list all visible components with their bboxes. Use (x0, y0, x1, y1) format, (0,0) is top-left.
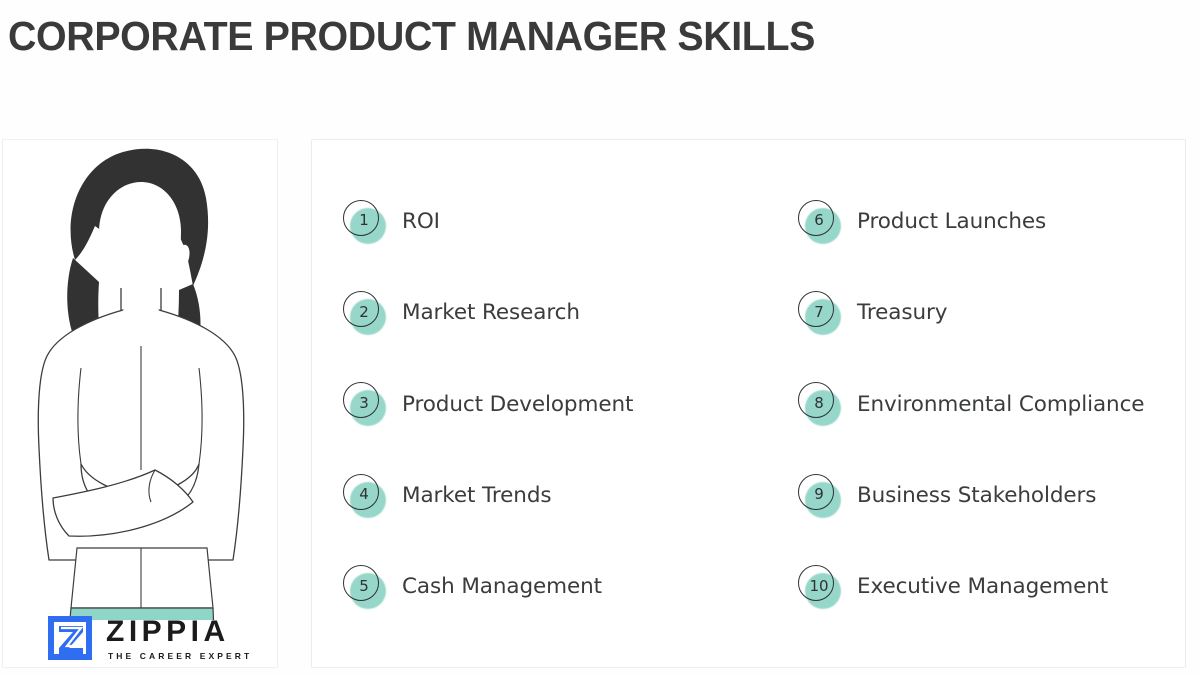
zippia-name: ZIPPIA (106, 617, 252, 647)
skill-number-2: 2 (359, 305, 369, 320)
skill-number-8: 8 (814, 396, 824, 411)
skill-number-badge-10: 10 (798, 565, 844, 609)
skill-item-6: 6 Product Launches (767, 176, 1185, 267)
skill-item-9: 9 Business Stakeholders (767, 450, 1185, 541)
skill-number-badge-2: 2 (343, 291, 389, 335)
skill-label-3: Product Development (402, 392, 633, 418)
zippia-tagline: THE CAREER EXPERT (108, 652, 252, 661)
zippia-z-mark-icon (44, 612, 96, 664)
skill-label-5: Cash Management (402, 574, 602, 600)
skill-item-4: 4 Market Trends (312, 450, 767, 541)
skill-number-badge-7: 7 (798, 291, 844, 335)
badge-ring-circle-icon: 2 (343, 291, 379, 327)
illustration-panel (2, 139, 278, 668)
skills-grid: 1 ROI 6 Product Launches 2 Market Resear… (312, 140, 1185, 667)
skill-number-badge-5: 5 (343, 565, 389, 609)
skill-item-10: 10 Executive Management (767, 542, 1185, 633)
badge-ring-circle-icon: 9 (798, 474, 834, 510)
skill-label-2: Market Research (402, 300, 580, 326)
skill-label-9: Business Stakeholders (857, 483, 1096, 509)
skill-label-7: Treasury (857, 300, 947, 326)
skill-number-9: 9 (814, 487, 824, 502)
skill-number-5: 5 (359, 579, 369, 594)
badge-ring-circle-icon: 4 (343, 474, 379, 510)
skill-label-4: Market Trends (402, 483, 551, 509)
skill-number-badge-9: 9 (798, 474, 844, 518)
skill-item-5: 5 Cash Management (312, 542, 767, 633)
page-title: CORPORATE PRODUCT MANAGER SKILLS (8, 14, 815, 59)
skill-number-badge-8: 8 (798, 382, 844, 426)
skill-label-8: Environmental Compliance (857, 392, 1144, 418)
skill-item-3: 3 Product Development (312, 359, 767, 450)
skill-number-6: 6 (814, 213, 824, 228)
skill-number-badge-1: 1 (343, 200, 389, 244)
zippia-wordmark: ZIPPIA THE CAREER EXPERT (106, 615, 252, 661)
badge-ring-circle-icon: 1 (343, 200, 379, 236)
badge-ring-circle-icon: 6 (798, 200, 834, 236)
skills-panel: 1 ROI 6 Product Launches 2 Market Resear… (311, 139, 1186, 668)
zippia-logo: ZIPPIA THE CAREER EXPERT (44, 612, 252, 664)
skill-number-7: 7 (814, 305, 824, 320)
skill-number-badge-3: 3 (343, 382, 389, 426)
skill-number-1: 1 (359, 213, 369, 228)
skill-number-4: 4 (359, 487, 369, 502)
skill-label-10: Executive Management (857, 574, 1108, 600)
skill-item-8: 8 Environmental Compliance (767, 359, 1185, 450)
skill-label-1: ROI (402, 209, 440, 235)
skill-number-10: 10 (809, 579, 828, 594)
skill-number-badge-6: 6 (798, 200, 844, 244)
skill-item-2: 2 Market Research (312, 267, 767, 358)
skill-number-badge-4: 4 (343, 474, 389, 518)
skill-label-6: Product Launches (857, 209, 1046, 235)
skill-item-7: 7 Treasury (767, 267, 1185, 358)
skill-item-1: 1 ROI (312, 176, 767, 267)
businesswoman-arms-crossed-illustration (3, 140, 278, 620)
skill-number-3: 3 (359, 396, 369, 411)
badge-ring-circle-icon: 7 (798, 291, 834, 327)
